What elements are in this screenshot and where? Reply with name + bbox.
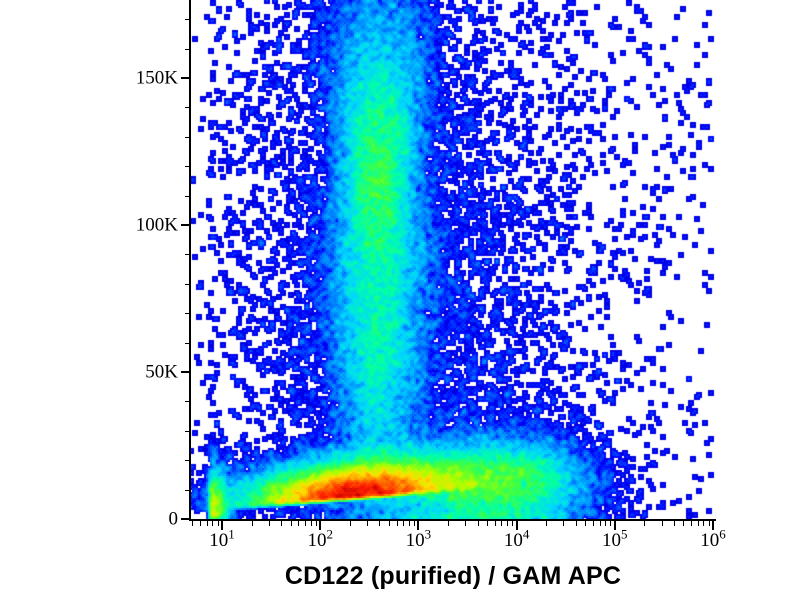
y-tick-label: 150K xyxy=(136,69,178,88)
y-tick-label: 50K xyxy=(145,363,178,382)
y-tick-minor xyxy=(185,196,190,197)
x-tick-minor xyxy=(207,521,208,526)
x-tick-minor xyxy=(512,521,513,526)
y-tick-minor xyxy=(185,343,190,344)
x-tick-minor xyxy=(465,521,466,526)
x-tick-minor xyxy=(212,521,213,526)
x-tick-minor xyxy=(683,521,684,526)
x-tick-minor xyxy=(605,521,606,526)
x-tick-minor xyxy=(478,521,479,526)
x-tick-minor xyxy=(389,521,390,526)
y-tick-minor xyxy=(185,313,190,314)
x-tick-label: 102 xyxy=(307,531,333,550)
x-tick-major xyxy=(516,521,518,530)
y-tick-minor xyxy=(185,166,190,167)
x-tick-minor xyxy=(350,521,351,526)
x-tick-major xyxy=(417,521,419,530)
x-tick-minor xyxy=(674,521,675,526)
x-tick-minor xyxy=(367,521,368,526)
x-tick-minor xyxy=(600,521,601,526)
x-tick-minor xyxy=(200,521,201,526)
y-tick-minor xyxy=(185,460,190,461)
y-tick-minor xyxy=(185,19,190,20)
y-tick-label: 0 xyxy=(169,510,179,529)
x-tick-minor xyxy=(644,521,645,526)
x-tick-label: 105 xyxy=(602,531,628,550)
y-tick-minor xyxy=(185,254,190,255)
y-tick-label: 100K xyxy=(136,216,178,235)
x-tick-major xyxy=(221,521,223,530)
x-tick-minor xyxy=(563,521,564,526)
x-tick-minor xyxy=(269,521,270,526)
y-tick-major xyxy=(181,77,190,79)
y-tick-major xyxy=(181,518,190,520)
x-tick-minor xyxy=(218,521,219,526)
x-tick-label: 106 xyxy=(700,531,726,550)
x-tick-minor xyxy=(709,521,710,526)
x-tick-major xyxy=(712,521,714,530)
x-tick-label: 104 xyxy=(504,531,530,550)
x-tick-major xyxy=(319,521,321,530)
plot-area xyxy=(190,0,715,520)
x-tick-label: 101 xyxy=(209,531,235,550)
x-tick-minor xyxy=(703,521,704,526)
x-tick-minor xyxy=(610,521,611,526)
x-tick-minor xyxy=(403,521,404,526)
x-tick-label: 103 xyxy=(406,531,432,550)
y-tick-minor xyxy=(185,490,190,491)
y-tick-major xyxy=(181,371,190,373)
x-tick-minor xyxy=(298,521,299,526)
x-tick-minor xyxy=(487,521,488,526)
x-tick-minor xyxy=(593,521,594,526)
x-tick-minor xyxy=(585,521,586,526)
x-tick-minor xyxy=(409,521,410,526)
x-tick-minor xyxy=(546,521,547,526)
y-tick-minor xyxy=(185,284,190,285)
y-tick-minor xyxy=(185,49,190,50)
x-tick-minor xyxy=(281,521,282,526)
x-tick-minor xyxy=(252,521,253,526)
x-tick-minor xyxy=(691,521,692,526)
y-tick-minor xyxy=(185,137,190,138)
flow-cytometry-density-plot: 101102103104105106 050K100K150K CD122 (p… xyxy=(0,0,800,600)
x-tick-minor xyxy=(305,521,306,526)
y-tick-minor xyxy=(185,401,190,402)
x-tick-major xyxy=(614,521,616,530)
x-tick-minor xyxy=(291,521,292,526)
x-tick-minor xyxy=(379,521,380,526)
scatter-density-canvas xyxy=(190,0,715,520)
x-tick-minor xyxy=(397,521,398,526)
x-tick-minor xyxy=(576,521,577,526)
x-tick-minor xyxy=(698,521,699,526)
x-tick-minor xyxy=(311,521,312,526)
x-tick-minor xyxy=(414,521,415,526)
x-tick-minor xyxy=(316,521,317,526)
y-tick-major xyxy=(181,224,190,226)
x-tick-minor xyxy=(495,521,496,526)
x-tick-minor xyxy=(192,521,193,526)
x-axis-title: CD122 (purified) / GAM APC xyxy=(190,562,716,591)
y-tick-minor xyxy=(185,107,190,108)
x-tick-minor xyxy=(501,521,502,526)
x-tick-minor xyxy=(662,521,663,526)
x-tick-minor xyxy=(507,521,508,526)
x-tick-minor xyxy=(448,521,449,526)
y-tick-minor xyxy=(185,431,190,432)
